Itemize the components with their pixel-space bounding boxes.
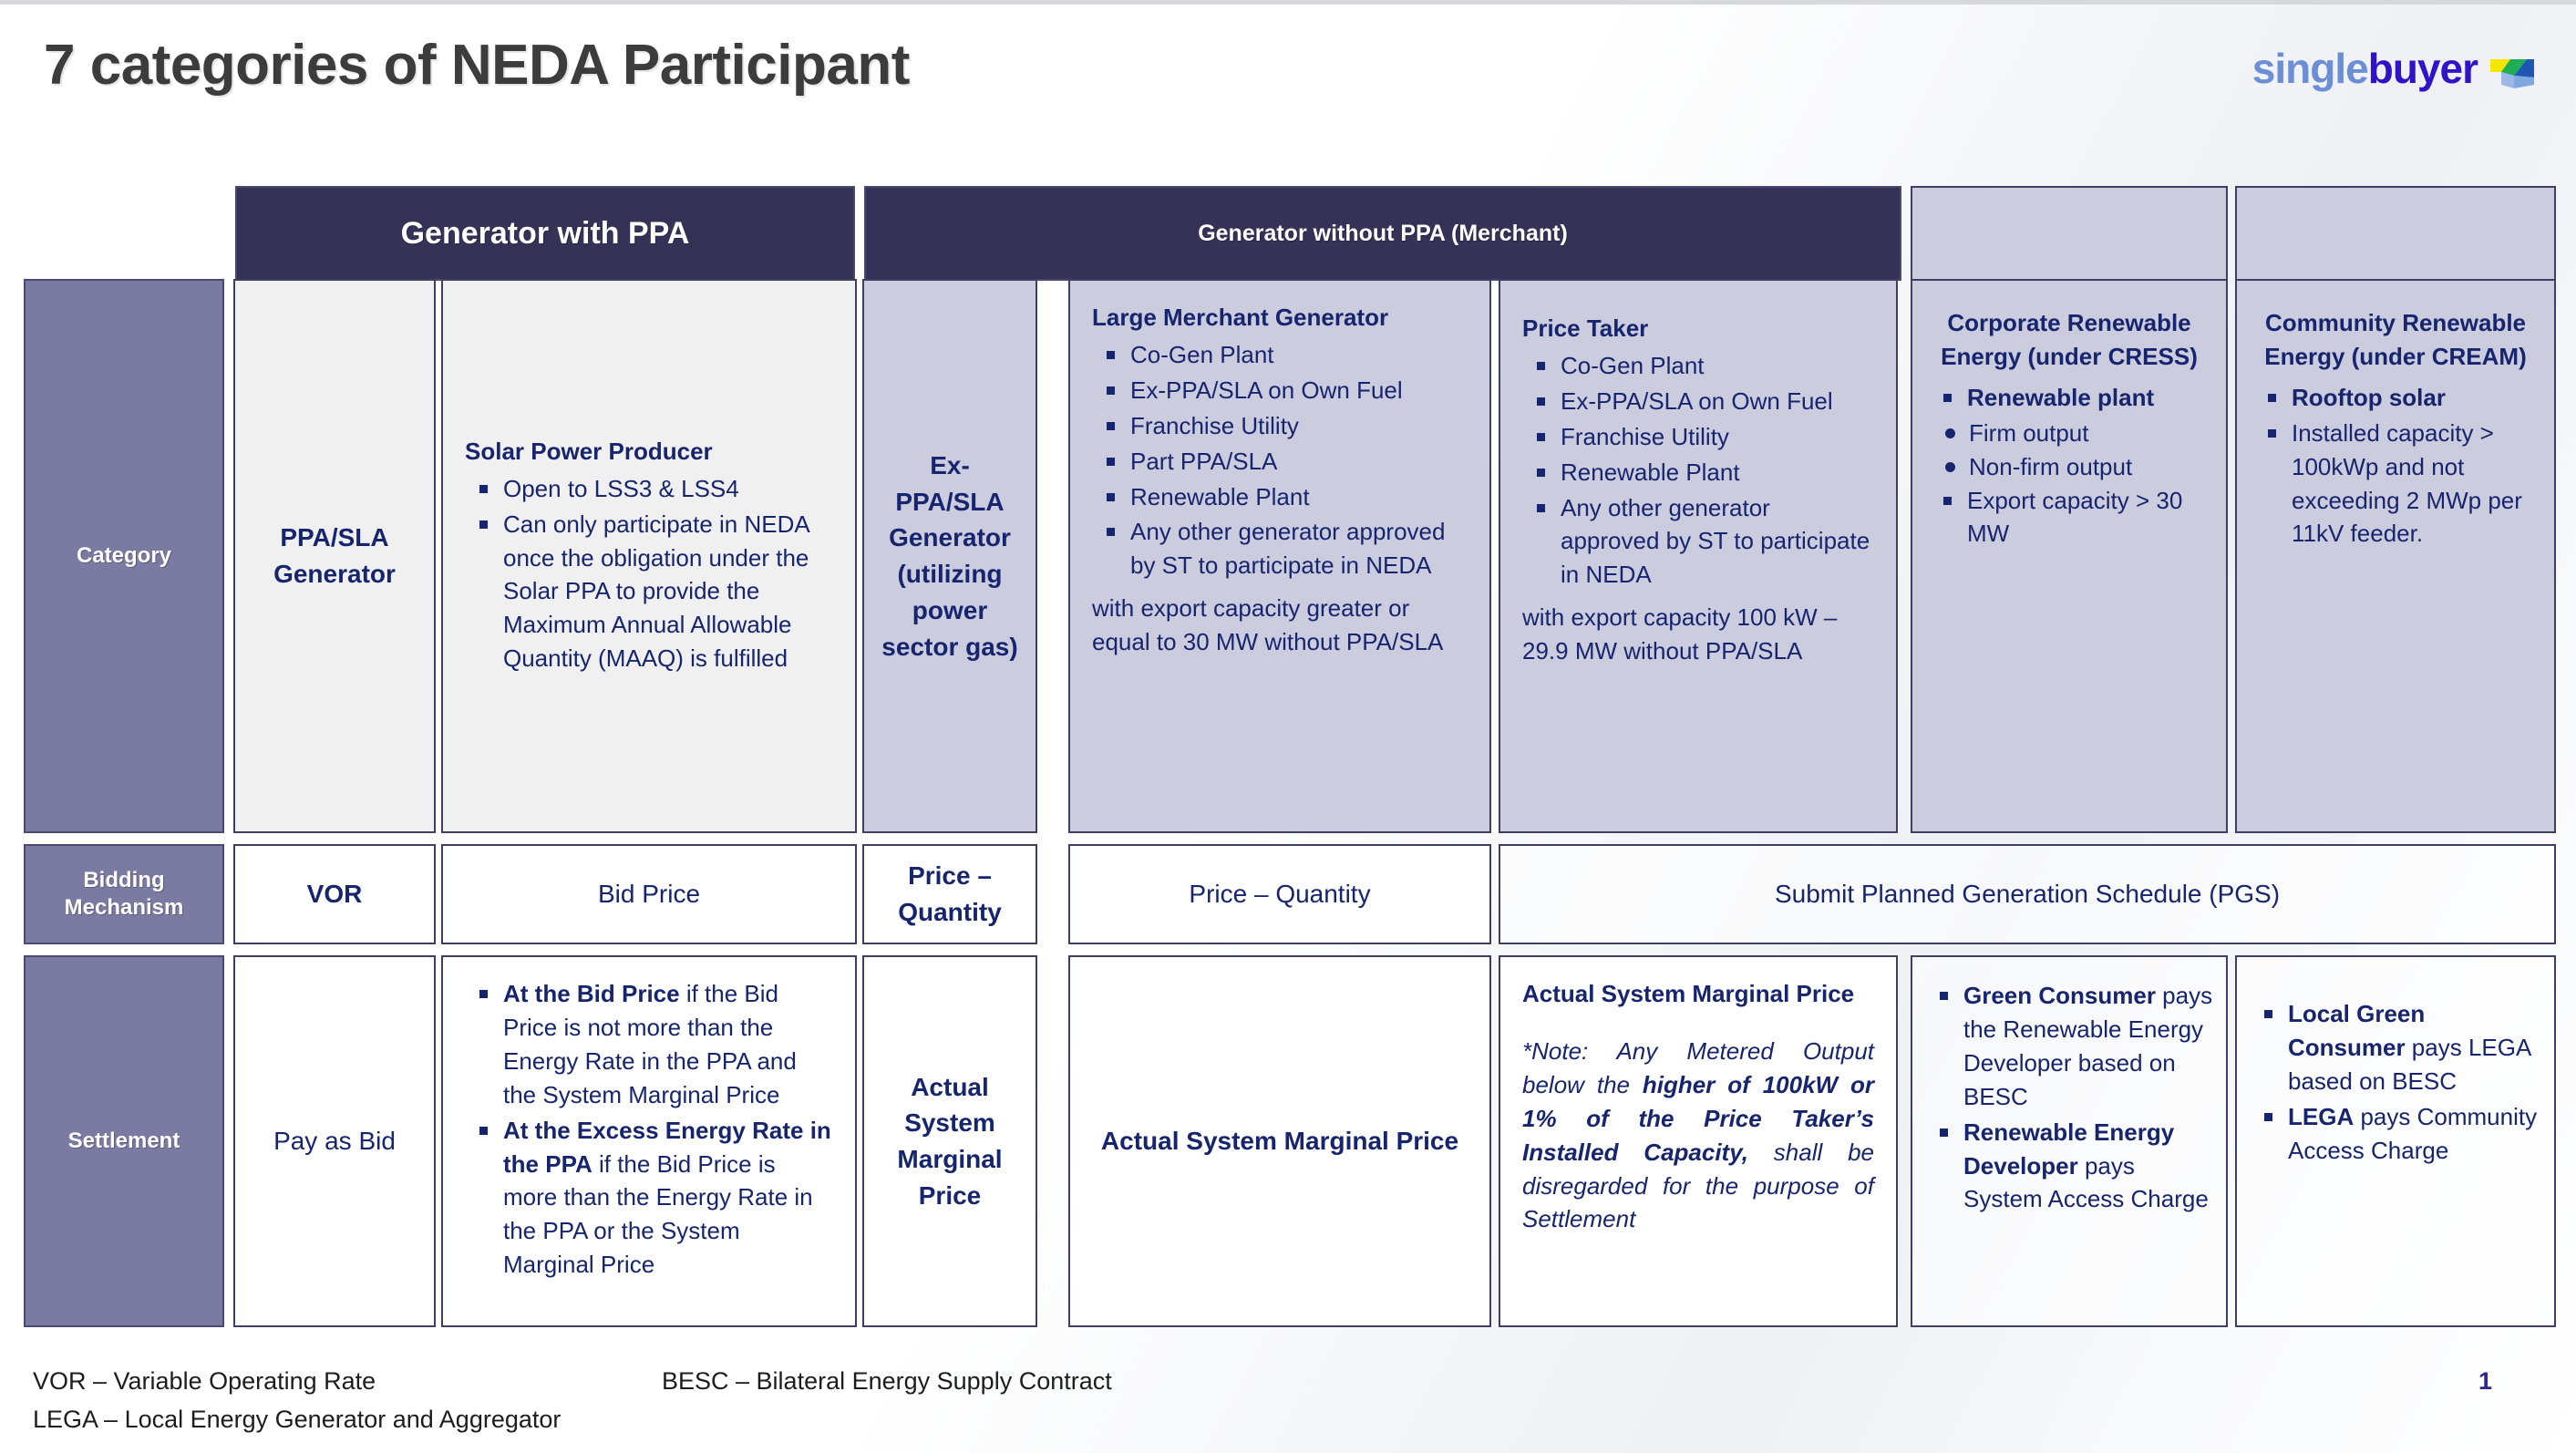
group-header-spacer-cream (2235, 186, 2556, 281)
cell-ex-ppa-sla-generator: Ex-PPA/SLA Generator (utilizing power se… (862, 279, 1037, 833)
cell-heading-large-merchant: Large Merchant Generator (1092, 301, 1468, 335)
brand-logo: singlebuyer (2252, 44, 2538, 93)
list-item: Can only participate in NEDA once the ob… (465, 508, 833, 676)
row-header-settlement: Settlement (24, 955, 224, 1327)
list-item: Franchise Utility (1092, 409, 1468, 443)
cell-cream: Community Renewable Energy (under CREAM)… (2235, 279, 2556, 833)
cell-bidding-vor: VOR (233, 844, 436, 944)
cell-heading-cream: Community Renewable Energy (under CREAM) (2253, 306, 2538, 374)
list-item: Renewable Energy Developer pays System A… (1925, 1116, 2213, 1217)
list-item: Renewable Plant (1092, 480, 1468, 514)
cell-bidding-price-quantity-merchant: Price – Quantity (1068, 844, 1491, 944)
cell-heading-price-taker: Price Taker (1522, 312, 1874, 345)
list-item: Co-Gen Plant (1522, 349, 1874, 383)
list-item: Green Consumer pays the Renewable Energy… (1925, 979, 2213, 1114)
list-item: Renewable plant (1929, 381, 2210, 415)
list-item: Ex-PPA/SLA on Own Fuel (1522, 385, 1874, 418)
list-item: LEGA pays Community Access Charge (2250, 1100, 2541, 1168)
list-item: Firm output (1929, 417, 2210, 450)
legend-besc: BESC – Bilateral Energy Supply Contract (662, 1367, 1112, 1396)
row-header-category: Category (24, 279, 224, 833)
list-item: Export capacity > 30 MW (1929, 484, 2210, 551)
cell-tail-price-taker: with export capacity 100 kW – 29.9 MW wi… (1522, 601, 1874, 668)
logo-wordmark: singlebuyer (2252, 44, 2478, 93)
list-item: Local Green Consumer pays LEGA based on … (2250, 997, 2541, 1098)
sub-bullet-list-cress: Firm output Non-firm output (1929, 417, 2210, 484)
cell-bidding-pgs: Submit Planned Generation Schedule (PGS) (1499, 844, 2556, 944)
cell-solar-power-producer: Solar Power Producer Open to LSS3 & LSS4… (441, 279, 857, 833)
bold-lead: Green Consumer (1963, 982, 2156, 1009)
list-item: Ex-PPA/SLA on Own Fuel (1092, 374, 1468, 407)
list-item: At the Bid Price if the Bid Price is not… (465, 977, 833, 1112)
list-item: Co-Gen Plant (1092, 338, 1468, 372)
cell-settlement-pay-as-bid: Pay as Bid (233, 955, 436, 1327)
list-item: Installed capacity > 100kWp and not exce… (2253, 417, 2538, 551)
cell-heading-solar: Solar Power Producer (465, 435, 833, 469)
group-header-generator-without-ppa: Generator without PPA (Merchant) (864, 186, 1901, 281)
bullet-list-large-merchant: Co-Gen Plant Ex-PPA/SLA on Own Fuel Fran… (1092, 338, 1468, 582)
list-item: Any other generator approved by ST to pa… (1522, 491, 1874, 593)
bullet-list-settlement-cream: Local Green Consumer pays LEGA based on … (2250, 997, 2541, 1168)
cell-cress: Corporate Renewable Energy (under CRESS)… (1911, 279, 2228, 833)
cell-ppa-sla-generator: PPA/SLA Generator (233, 279, 436, 833)
bullet-list-cress-2: Export capacity > 30 MW (1929, 484, 2210, 551)
cell-large-merchant-generator: Large Merchant Generator Co-Gen Plant Ex… (1068, 279, 1491, 833)
bullet-list-cress: Renewable plant (1929, 381, 2210, 415)
page-number: 1 (2478, 1367, 2492, 1396)
bullet-list-settlement-ppa: At the Bid Price if the Bid Price is not… (465, 977, 833, 1282)
cell-bidding-bid-price: Bid Price (441, 844, 857, 944)
list-item: At the Excess Energy Rate in the PPA if … (465, 1114, 833, 1283)
bold-lead: LEGA (2288, 1103, 2354, 1130)
bold-lead: At the Bid Price (503, 980, 680, 1007)
row-header-bidding-mechanism: Bidding Mechanism (24, 844, 224, 944)
cell-settlement-ppa-rules: At the Bid Price if the Bid Price is not… (441, 955, 857, 1327)
legend-lega: LEGA – Local Energy Generator and Aggreg… (33, 1406, 561, 1434)
bullet-list-settlement-cress: Green Consumer pays the Renewable Energy… (1925, 979, 2213, 1216)
list-item: Part PPA/SLA (1092, 445, 1468, 479)
cell-heading-asmp-note: Actual System Marginal Price (1522, 977, 1874, 1011)
cell-tail-large-merchant: with export capacity greater or equal to… (1092, 592, 1468, 659)
page-title: 7 categories of NEDA Participant (44, 33, 910, 98)
cell-settlement-cream: Local Green Consumer pays LEGA based on … (2235, 955, 2556, 1327)
chevron-logo-mark-icon (2487, 45, 2538, 92)
cell-settlement-asmp-ex-ppa: Actual System Marginal Price (862, 955, 1037, 1327)
cell-settlement-cress: Green Consumer pays the Renewable Energy… (1911, 955, 2228, 1327)
list-item: Open to LSS3 & LSS4 (465, 472, 833, 506)
top-rule (0, 0, 2576, 5)
logo-text-buyer: buyer (2368, 45, 2478, 92)
bold-lead: Renewable Energy Developer (1963, 1118, 2174, 1180)
list-item: Franchise Utility (1522, 420, 1874, 454)
cell-price-taker: Price Taker Co-Gen Plant Ex-PPA/SLA on O… (1499, 279, 1898, 833)
legend-vor: VOR – Variable Operating Rate (33, 1367, 376, 1396)
list-item: Non-firm output (1929, 450, 2210, 484)
settlement-note-text: *Note: Any Metered Output below the high… (1522, 1035, 1874, 1236)
bullet-list-solar: Open to LSS3 & LSS4 Can only participate… (465, 472, 833, 677)
list-item: Rooftop solar (2253, 381, 2538, 415)
group-header-spacer-cress (1911, 186, 2228, 281)
bullet-list-price-taker: Co-Gen Plant Ex-PPA/SLA on Own Fuel Fran… (1522, 349, 1874, 592)
cell-settlement-asmp-note: Actual System Marginal Price *Note: Any … (1499, 955, 1898, 1327)
cell-bidding-price-quantity-ex-ppa: Price – Quantity (862, 844, 1037, 944)
logo-text-single: single (2252, 45, 2368, 92)
cell-heading-cress: Corporate Renewable Energy (under CRESS) (1929, 306, 2210, 374)
cell-settlement-asmp-merchant: Actual System Marginal Price (1068, 955, 1491, 1327)
list-item: Any other generator approved by ST to pa… (1092, 515, 1468, 582)
bullet-list-cream: Rooftop solar Installed capacity > 100kW… (2253, 381, 2538, 551)
group-header-generator-with-ppa: Generator with PPA (235, 186, 855, 281)
list-item: Renewable Plant (1522, 456, 1874, 489)
